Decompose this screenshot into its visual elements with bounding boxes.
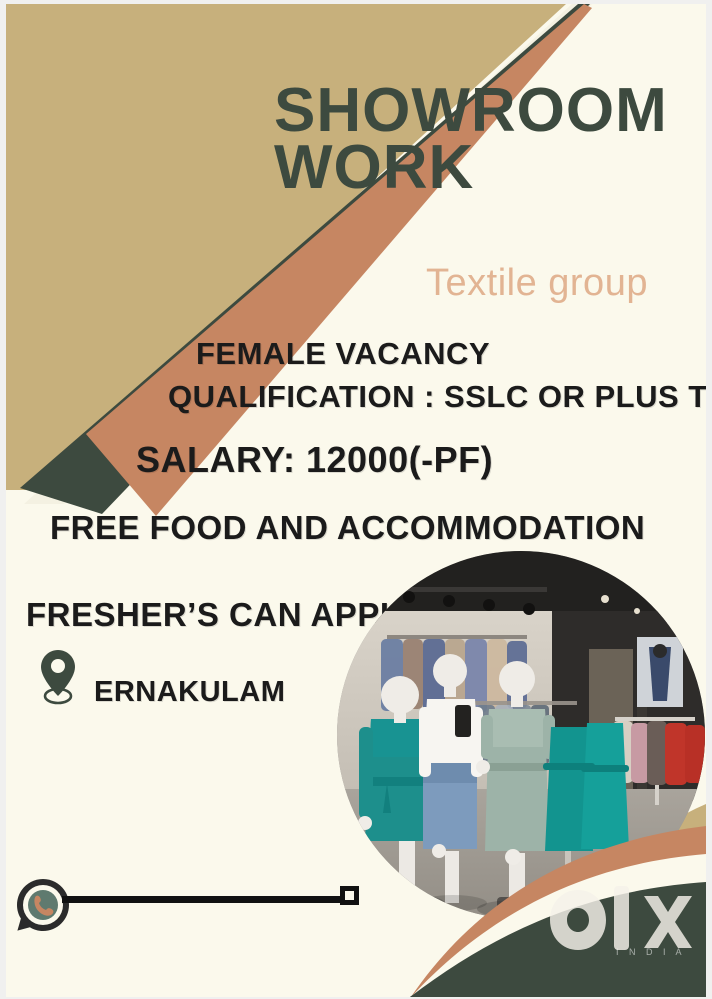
contact-number-placeholder-box[interactable] xyxy=(340,886,359,905)
detail-salary: Salary: 12000(-PF) xyxy=(136,439,493,481)
whatsapp-phone-icon[interactable] xyxy=(14,876,72,934)
page-title: Showroom Work xyxy=(274,82,694,196)
detail-freshers-can-apply: Fresher’s can apply xyxy=(26,596,420,634)
showroom-photo xyxy=(337,551,705,919)
headline-line-2: Work xyxy=(274,139,694,196)
contact-number-rule xyxy=(62,896,350,903)
subtitle: Textile group xyxy=(426,262,648,305)
poster-root: Showroom Work Textile group Female vacan… xyxy=(0,0,712,999)
location-pin-icon xyxy=(36,648,80,706)
location-label: Ernakulam xyxy=(94,676,285,709)
poster-canvas: Showroom Work Textile group Female vacan… xyxy=(6,4,706,997)
detail-qualification: Qualification : SSLC or plus two xyxy=(168,379,706,415)
detail-food-accommodation: Free food and accommodation xyxy=(50,509,645,547)
detail-female-vacancy: Female vacancy xyxy=(196,336,490,372)
olx-region-label: I N D I A xyxy=(616,947,686,957)
